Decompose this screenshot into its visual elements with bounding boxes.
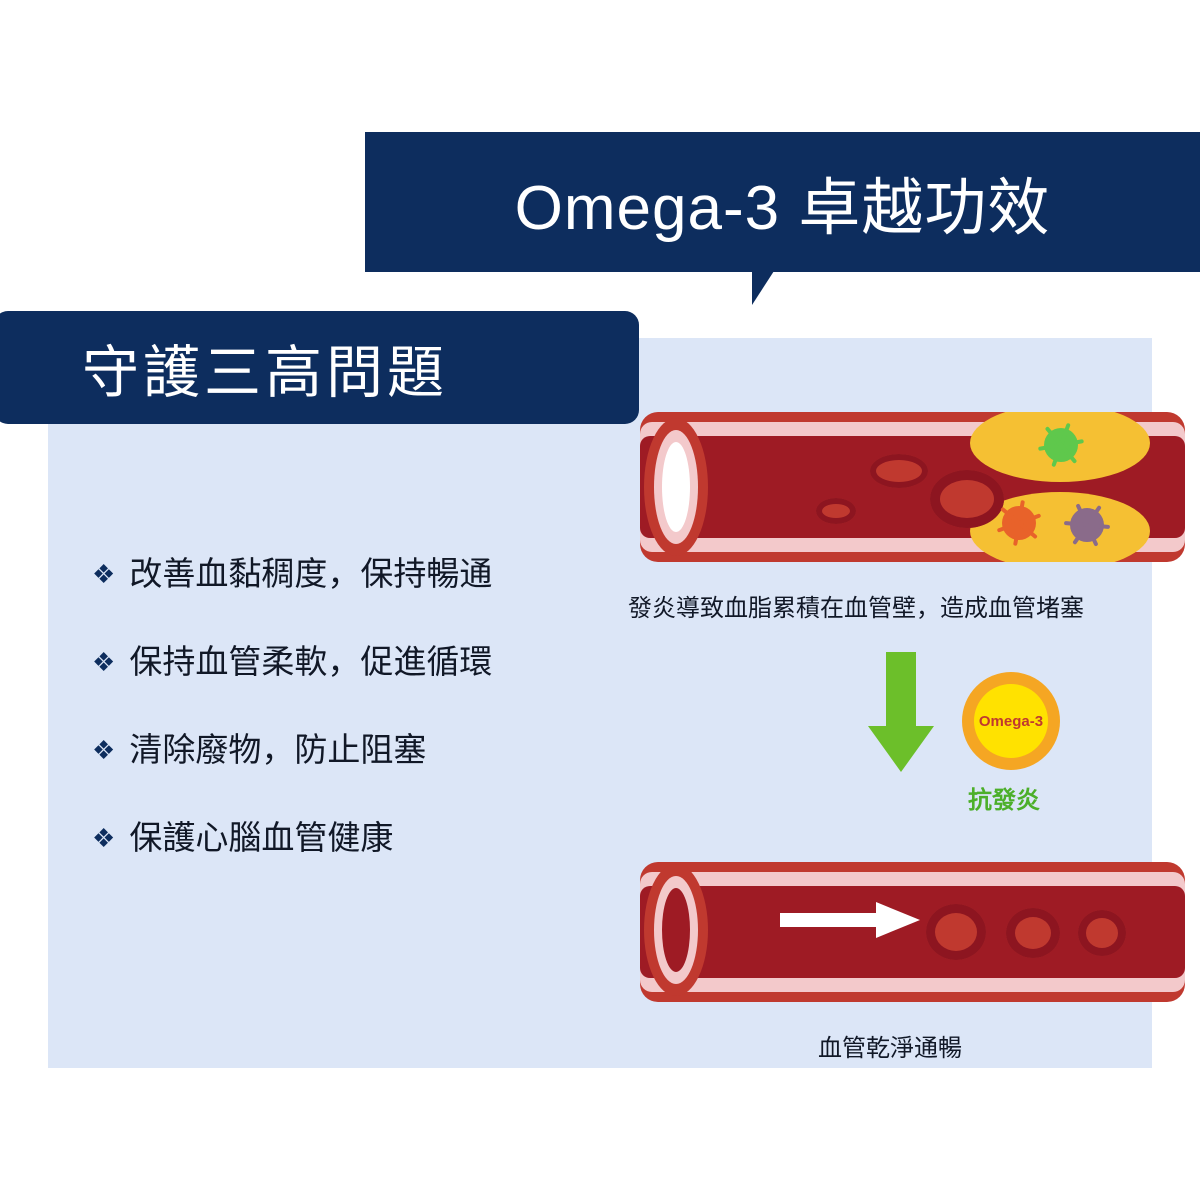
title-banner: Omega-3 卓越功效 [365, 132, 1200, 272]
caption-blocked-vessel: 發炎導致血脂累積在血管壁，造成血管堵塞 [628, 588, 1084, 623]
subtitle-banner: 守護三高問題 [0, 311, 639, 424]
red-blood-cell [930, 470, 1004, 528]
vessel-opening [662, 888, 690, 972]
vessel-opening [662, 442, 690, 532]
list-item: ❖ 保護心腦血管健康 [92, 816, 612, 860]
diamond-bullet-icon: ❖ [92, 728, 115, 772]
list-item-label: 清除廢物，防止阻塞 [129, 728, 426, 772]
white-right-arrow-icon [780, 900, 920, 940]
caption-clean-vessel: 血管乾淨通暢 [818, 1028, 962, 1063]
red-blood-cell [816, 498, 856, 524]
germ-icon [1070, 508, 1104, 542]
diamond-bullet-icon: ❖ [92, 816, 115, 860]
red-blood-cell [1078, 910, 1126, 956]
red-blood-cell [870, 454, 928, 488]
list-item-label: 保護心腦血管健康 [129, 816, 393, 860]
list-item: ❖ 清除廢物，防止阻塞 [92, 728, 612, 772]
page-title: Omega-3 卓越功效 [515, 157, 1051, 247]
omega3-capsule-label: Omega-3 [979, 713, 1043, 730]
title-banner-tail [752, 271, 796, 305]
omega3-capsule-icon: Omega-3 [962, 672, 1060, 770]
diamond-bullet-icon: ❖ [92, 640, 115, 684]
list-item-label: 改善血黏稠度，保持暢通 [129, 552, 492, 596]
infographic-canvas: Omega-3 卓越功效 守護三高問題 ❖ 改善血黏稠度，保持暢通 ❖ 保持血管… [0, 0, 1200, 1200]
blocked-blood-vessel-illustration [640, 412, 1185, 562]
red-blood-cell [1006, 908, 1060, 958]
list-item: ❖ 保持血管柔軟，促進循環 [92, 640, 612, 684]
red-blood-cell [926, 904, 986, 960]
list-item: ❖ 改善血黏稠度，保持暢通 [92, 552, 612, 596]
green-down-arrow-icon [868, 652, 934, 772]
germ-icon [1044, 428, 1078, 462]
list-item-label: 保持血管柔軟，促進循環 [129, 640, 492, 684]
anti-inflammation-label: 抗發炎 [968, 780, 1040, 815]
subtitle-text: 守護三高問題 [82, 327, 448, 409]
germ-icon [1002, 506, 1036, 540]
benefits-list: ❖ 改善血黏稠度，保持暢通 ❖ 保持血管柔軟，促進循環 ❖ 清除廢物，防止阻塞 … [92, 552, 612, 904]
diamond-bullet-icon: ❖ [92, 552, 115, 596]
